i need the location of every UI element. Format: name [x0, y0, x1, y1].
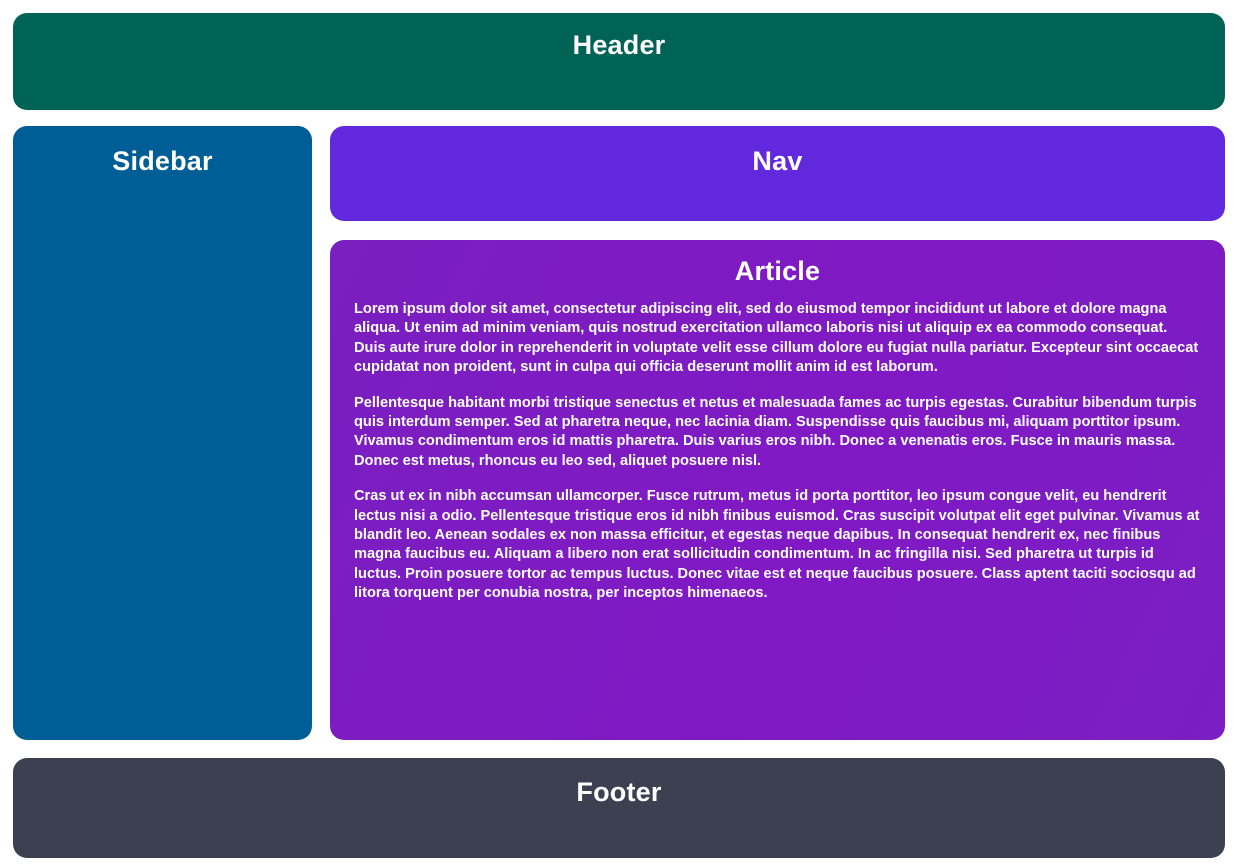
article-body: Lorem ipsum dolor sit amet, consectetur … [354, 300, 1201, 604]
sidebar-region[interactable]: Sidebar [13, 126, 312, 740]
header-region: Header [13, 13, 1225, 110]
article-title: Article [354, 254, 1201, 288]
nav-title: Nav [330, 145, 1225, 177]
article-paragraph: Lorem ipsum dolor sit amet, consectetur … [354, 300, 1201, 378]
article-paragraph: Cras ut ex in nibh accumsan ullamcorper.… [354, 487, 1201, 603]
footer-title: Footer [13, 776, 1225, 808]
header-title: Header [13, 29, 1225, 61]
footer-region: Footer [13, 758, 1225, 858]
article-paragraph: Pellentesque habitant morbi tristique se… [354, 394, 1201, 472]
sidebar-title: Sidebar [13, 145, 312, 177]
article-region: Article Lorem ipsum dolor sit amet, cons… [330, 240, 1225, 740]
nav-region[interactable]: Nav [330, 126, 1225, 221]
page-root: Header Sidebar Nav Article Lorem ipsum d… [0, 0, 1238, 867]
